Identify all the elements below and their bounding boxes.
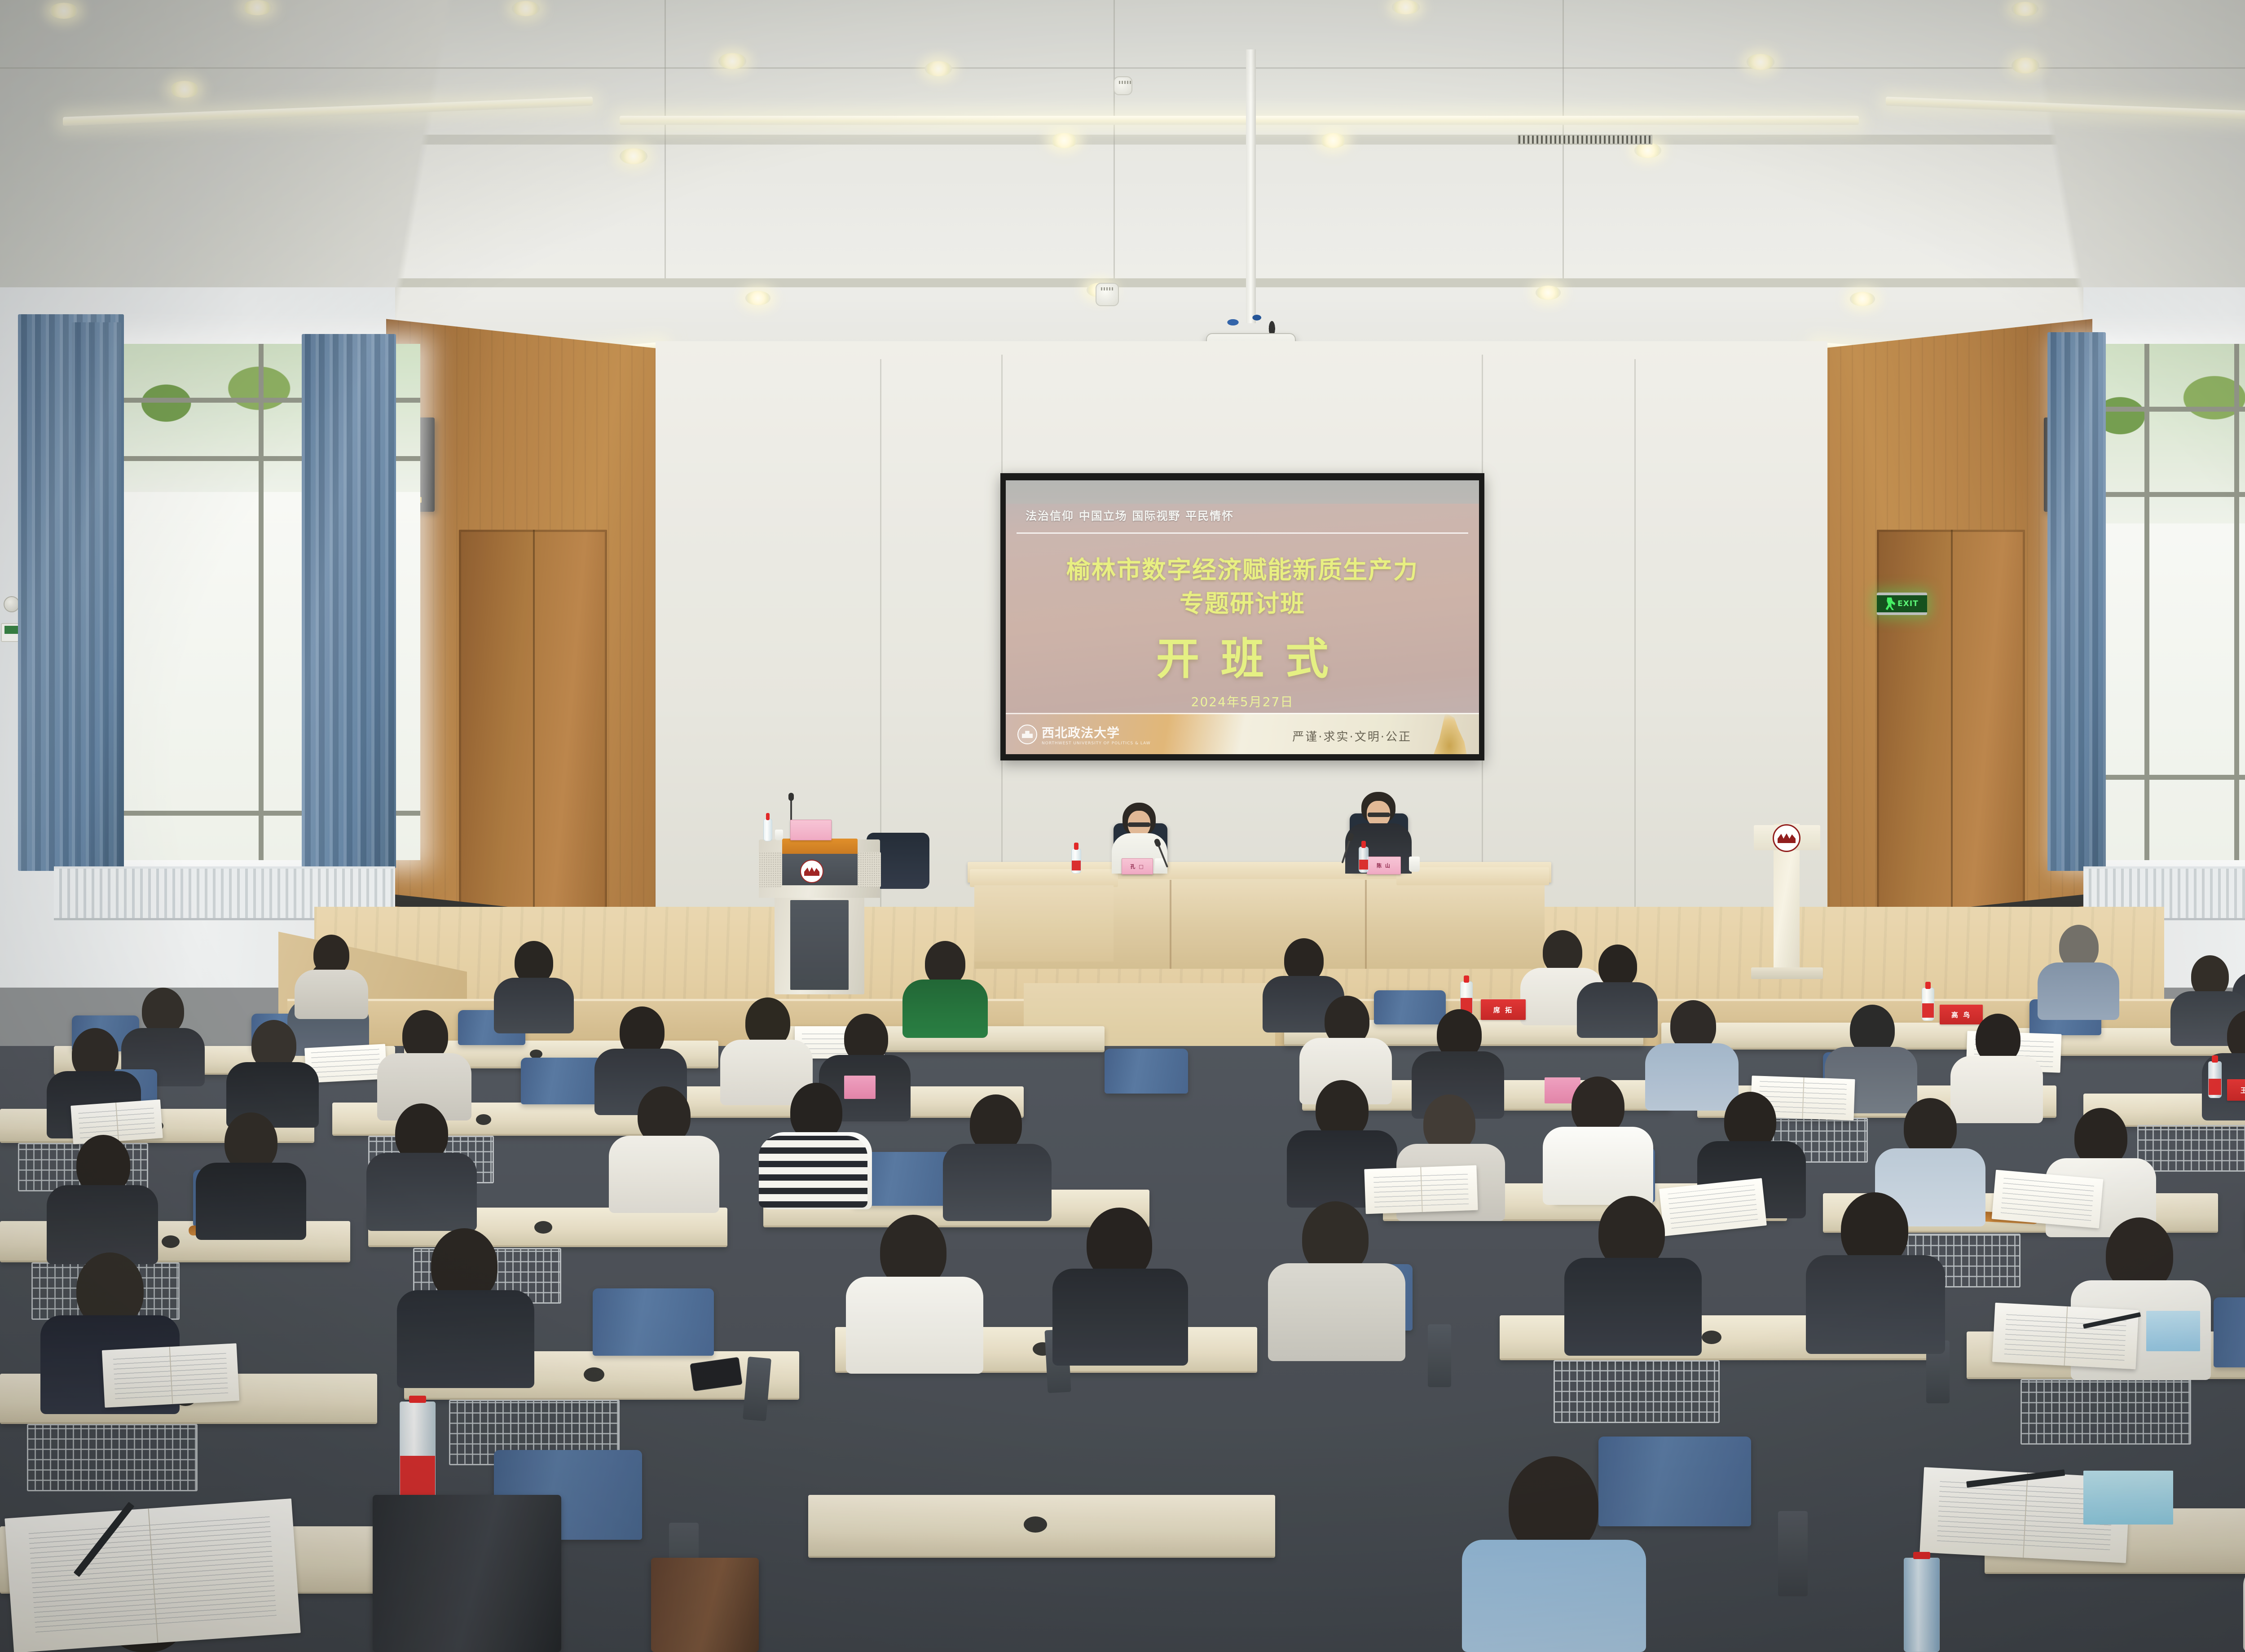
open-notebook <box>102 1343 239 1408</box>
desk-nameplate-red: 高 鸟 <box>1940 1005 1983 1024</box>
screen-date: 2024年5月27日 <box>1006 692 1479 710</box>
exit-sign-label: EXIT <box>1897 599 1919 608</box>
downlight <box>49 3 78 19</box>
desk-nameplate-red: 席 拓 <box>1481 999 1526 1020</box>
downlight <box>2012 2 2038 16</box>
paper-cup <box>1155 858 1165 873</box>
speaker-left-glasses <box>1128 822 1150 827</box>
wall-seam <box>1634 359 1636 938</box>
blue-folder <box>2146 1311 2200 1351</box>
side-table-top-left <box>970 869 1118 887</box>
seat[interactable] <box>1105 1049 1188 1094</box>
audience-body <box>1543 1127 1653 1205</box>
bottle-label <box>400 1456 435 1501</box>
door-right[interactable] <box>1877 530 2025 916</box>
lectern-nameplate <box>790 820 832 840</box>
curtain-left-b <box>302 334 396 868</box>
downlight <box>1850 292 1875 306</box>
seat[interactable] <box>593 1288 714 1356</box>
downlight <box>718 53 746 69</box>
window-mullion <box>259 344 264 860</box>
air-vent <box>1518 135 1652 145</box>
audience-body <box>397 1290 534 1388</box>
screen-top-strip <box>1006 480 1479 504</box>
window-mullion <box>2144 344 2149 860</box>
water-bottle <box>763 819 772 841</box>
book-basket <box>27 1424 198 1491</box>
audience-body <box>1564 1258 1702 1356</box>
water-bottle <box>1071 848 1081 874</box>
seat[interactable] <box>521 1058 602 1104</box>
audience-body <box>1806 1255 1945 1354</box>
ceiling-seam <box>665 0 666 278</box>
speaker-right-glasses <box>1368 813 1390 817</box>
curtain-left-fold <box>72 322 121 870</box>
audience-body <box>1577 982 1658 1038</box>
paper-cup <box>1409 857 1420 872</box>
audience-body <box>846 1277 983 1374</box>
seat[interactable] <box>1598 1437 1751 1526</box>
podium-university-logo <box>1773 824 1800 852</box>
water-bottle-front <box>400 1402 436 1509</box>
seat-bracket <box>1428 1324 1451 1387</box>
open-notebook-front <box>4 1498 300 1652</box>
screen-title-line1: 榆林市数字经济赋能新质生产力 <box>1006 550 1479 585</box>
open-notebook <box>1992 1303 2139 1370</box>
laptop-bag <box>373 1495 561 1652</box>
downlight <box>925 61 952 76</box>
smoke-detector <box>1096 283 1119 306</box>
water-bottle <box>2208 1061 2222 1098</box>
cove-light <box>620 116 1859 125</box>
audience-body <box>1268 1263 1405 1361</box>
audience-body <box>1950 1056 2043 1123</box>
blue-folder <box>2083 1471 2173 1525</box>
smoke-detector <box>1114 76 1132 95</box>
side-table-front-left <box>974 885 1114 962</box>
downlight <box>242 0 272 15</box>
book-basket <box>1554 1360 1720 1423</box>
downlight <box>1320 133 1346 148</box>
audience-body <box>47 1185 158 1264</box>
desk-row-e <box>808 1495 1275 1558</box>
leather-folio <box>651 1558 759 1652</box>
projection-screen: 法治信仰 中国立场 国际视野 平民情怀 榆林市数字经济赋能新质生产力 专题研讨班… <box>1006 480 1479 754</box>
university-seal-icon <box>1017 725 1037 744</box>
decorative-figure <box>1429 713 1470 754</box>
water-bottle <box>1922 988 1934 1021</box>
projector-mount-pole <box>1246 49 1256 323</box>
seat[interactable] <box>1374 990 1446 1024</box>
downlight <box>1747 54 1774 70</box>
lecture-hall-photo: EXIT 法治信仰 中国立场 国际视野 平民情怀 榆林市数字经济赋能新质生产力 <box>0 0 2245 1652</box>
lectern-speaker-grill-right <box>858 852 881 887</box>
downlight <box>1392 0 1420 14</box>
audience-body <box>609 1136 719 1213</box>
audience-body <box>1462 1540 1646 1652</box>
open-notebook <box>1364 1165 1478 1214</box>
door-left[interactable] <box>459 530 607 916</box>
audience-head <box>142 988 184 1034</box>
audience-body <box>494 978 574 1033</box>
audience-body <box>196 1163 306 1240</box>
ceiling-seam <box>0 67 2245 69</box>
lectern-university-logo <box>800 860 823 883</box>
lectern-wood-surface <box>782 839 858 854</box>
university-name-en: NORTHWEST UNIVERSITY OF POLITICS & LAW <box>1042 741 1151 746</box>
projection-screen-frame: 法治信仰 中国立场 国际视野 平民情怀 榆林市数字经济赋能新质生产力 专题研讨班… <box>1000 473 1484 760</box>
screen-footer-bar: 西北政法大学 NORTHWEST UNIVERSITY OF POLITICS … <box>1006 713 1479 754</box>
audience-head <box>925 941 965 986</box>
seat[interactable] <box>2214 1297 2245 1367</box>
audience-body <box>943 1144 1052 1221</box>
downlight <box>745 291 770 305</box>
running-person-icon <box>1885 598 1895 610</box>
downlight <box>170 81 199 98</box>
audience-body <box>1645 1043 1739 1111</box>
downlight <box>1634 143 1661 158</box>
audience-body <box>2038 962 2119 1020</box>
audience-body <box>366 1153 477 1231</box>
university-motto: 严谨·求实·文明·公正 <box>1292 728 1412 744</box>
podium-foot <box>1751 967 1823 979</box>
head-table-seam <box>1365 880 1367 969</box>
head-table-seam <box>1170 880 1171 969</box>
downlight <box>1051 133 1078 148</box>
downlight <box>2012 57 2039 74</box>
screen-headline: 开班式 <box>1006 624 1479 686</box>
window-mullion <box>2234 344 2239 860</box>
screen-title-line2: 专题研讨班 <box>1006 584 1479 619</box>
downlight <box>1536 286 1561 300</box>
downlight <box>512 1 540 16</box>
lectern-base-panel <box>790 900 849 990</box>
audience-body <box>902 980 988 1038</box>
water-bottle-front <box>1904 1558 1940 1652</box>
audience-head <box>1598 945 1637 988</box>
book-basket <box>2020 1379 2191 1445</box>
audience-body <box>1052 1269 1188 1366</box>
audience-body <box>295 970 368 1019</box>
downlight <box>620 148 647 164</box>
water-bottle <box>1359 847 1369 873</box>
screen-motto: 法治信仰 中国立场 国际视野 平民情怀 <box>1026 507 1234 523</box>
emergency-exit-sign: EXIT <box>1877 593 1927 615</box>
university-name-cn: 西北政法大学 <box>1042 723 1151 741</box>
open-notebook <box>70 1099 163 1144</box>
audience-striped-shirt <box>759 1136 867 1208</box>
speaker-right-nameplate: 陈 山 <box>1367 857 1401 874</box>
bottle-label <box>1072 861 1081 870</box>
screen-divider <box>1017 532 1468 534</box>
speaker-left-nameplate: 孔 □ <box>1122 858 1153 874</box>
book-basket <box>2137 1125 2245 1172</box>
audience-head <box>313 935 349 975</box>
pink-folder <box>844 1076 876 1099</box>
curtain-right-a <box>2047 332 2106 871</box>
wall-disc <box>4 596 20 612</box>
lectern-speaker-grill-left <box>759 852 782 887</box>
desk-nameplate-red: 王 健 <box>2227 1079 2245 1101</box>
bottle-label <box>1359 860 1368 870</box>
ceiling-seam <box>1114 0 1115 278</box>
seat-bracket <box>1778 1511 1808 1596</box>
handout <box>1992 1170 2104 1228</box>
paper-cup <box>775 830 783 840</box>
screen-footer-brand: 西北政法大学 NORTHWEST UNIVERSITY OF POLITICS … <box>1017 723 1151 746</box>
